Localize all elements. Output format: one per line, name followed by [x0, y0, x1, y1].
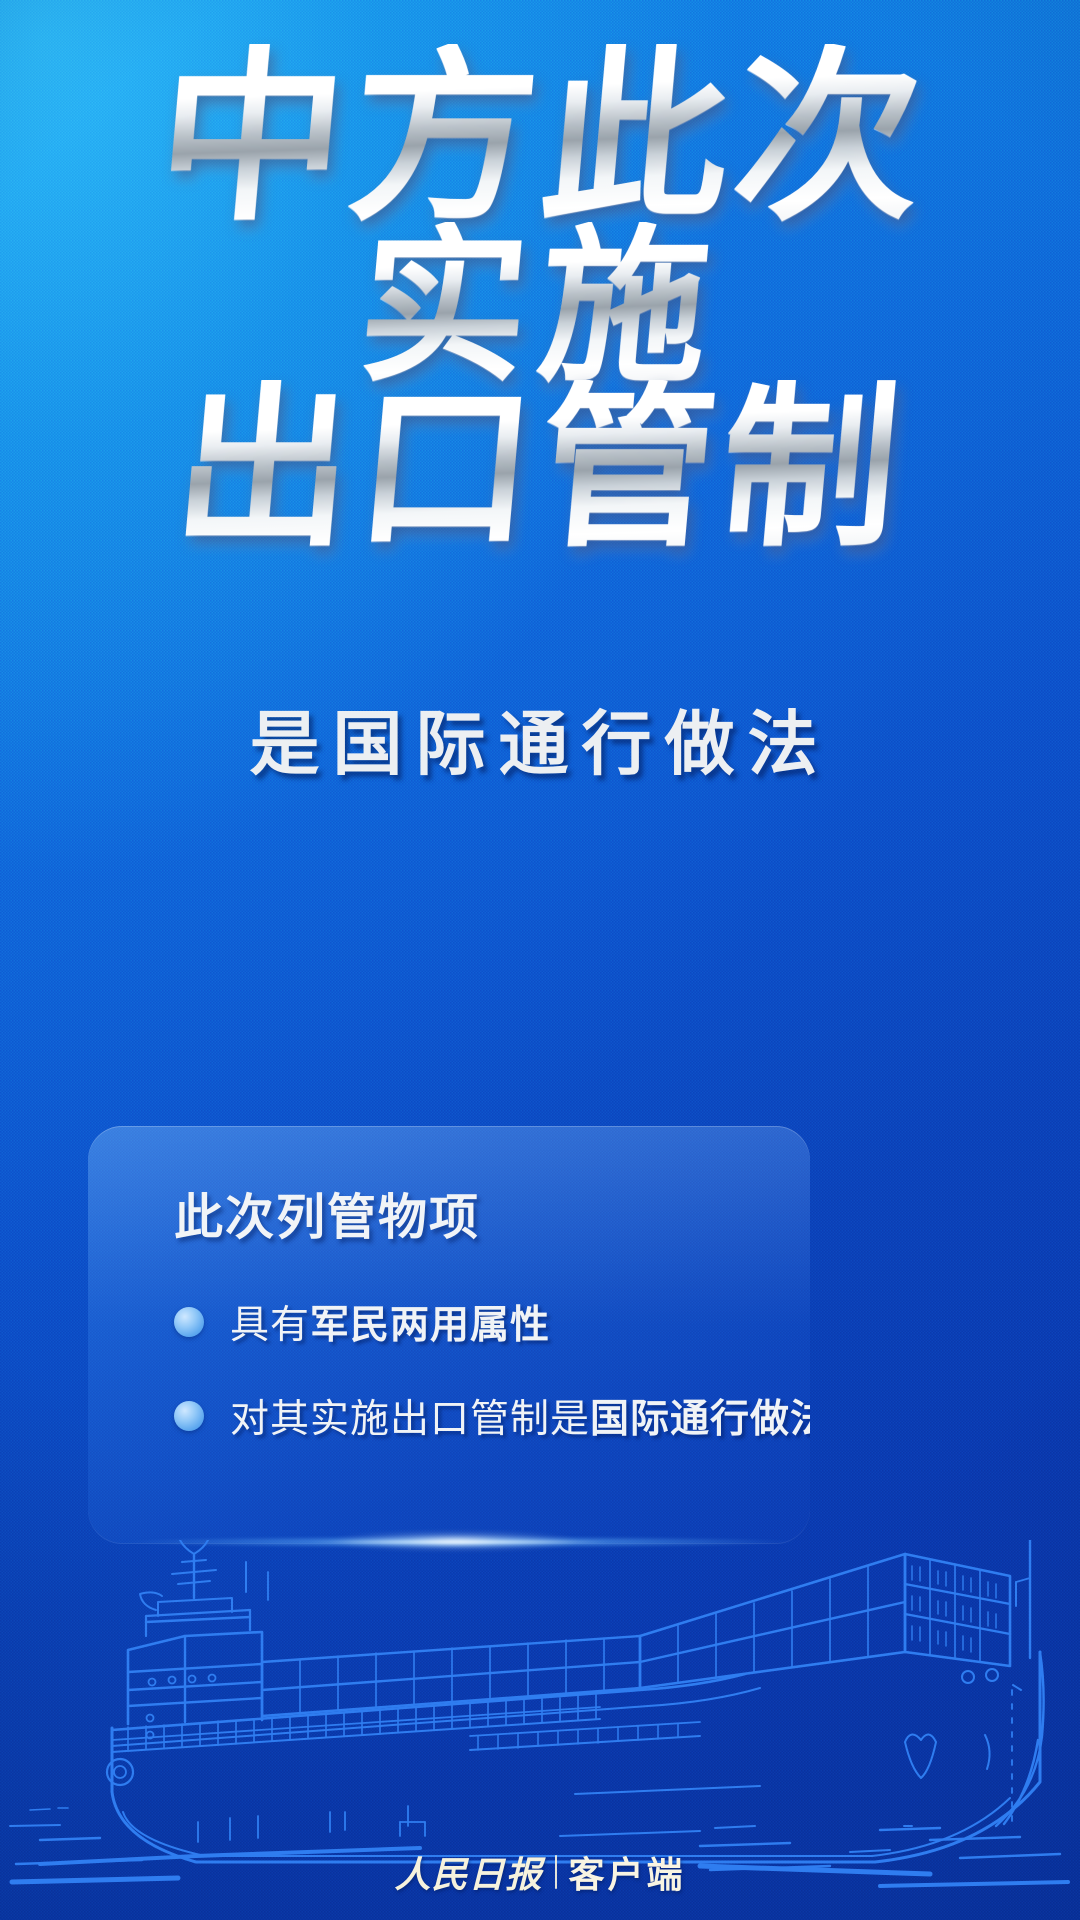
headline-line-3-row: 出口管制 — [0, 390, 1080, 556]
logo-divider-icon — [555, 1855, 557, 1889]
bullet-dot-icon — [174, 1401, 204, 1431]
bullet-text-emphasis: 国际通行做法 — [590, 1397, 810, 1442]
subtitle-block: 是国际通行做法 — [0, 688, 1080, 789]
poster-canvas: 中方此次 实施 出口管制 是国际通行做法 此次列管物项 具有军民两用属性 对其实… — [0, 0, 1080, 1920]
headline-block: 中方此次 实施 出口管制 — [0, 44, 1080, 556]
info-card: 此次列管物项 具有军民两用属性 对其实施出口管制是国际通行做法 — [88, 1126, 810, 1544]
subtitle-text: 是国际通行做法 — [250, 688, 831, 789]
card-title: 此次列管物项 — [174, 1178, 480, 1249]
headline-line-1: 中方此次 — [151, 44, 935, 230]
bullet-text-emphasis: 军民两用属性 — [310, 1303, 550, 1348]
list-item: 具有军民两用属性 — [174, 1294, 550, 1350]
container-ship-line-art — [0, 1540, 1080, 1880]
bullet-text: 具有军民两用属性 — [230, 1294, 550, 1350]
headline-line-1-row: 中方此次 — [0, 44, 1080, 230]
headline-line-3: 出口管制 — [168, 380, 911, 556]
list-item: 对其实施出口管制是国际通行做法 — [174, 1388, 810, 1444]
bullet-text: 对其实施出口管制是国际通行做法 — [230, 1388, 810, 1444]
publisher-name: 人民日报 — [394, 1846, 542, 1898]
bullet-dot-icon — [174, 1307, 204, 1337]
bullet-text-plain: 具有 — [230, 1303, 310, 1348]
publisher-logo[interactable]: 人民日报 客户端 — [0, 1846, 1080, 1898]
footer: 人民日报 客户端 — [0, 1840, 1080, 1914]
bullet-text-plain: 对其实施出口管制是 — [230, 1397, 590, 1442]
app-name: 客户端 — [569, 1846, 686, 1898]
